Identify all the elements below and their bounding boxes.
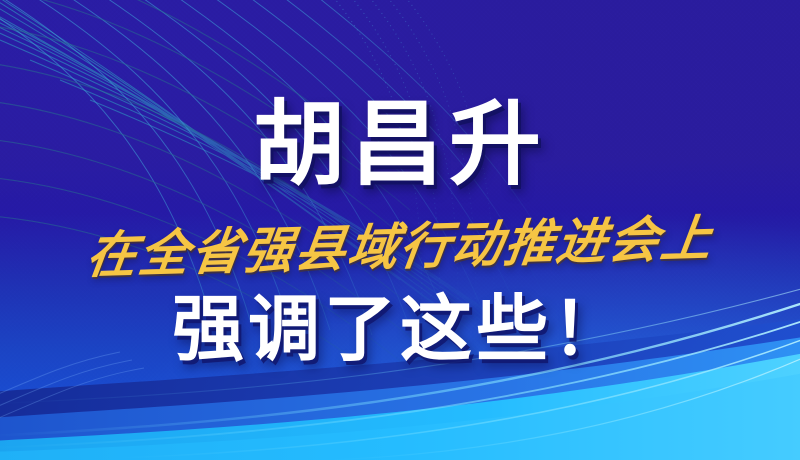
headline: 胡昌升 [0,99,800,191]
news-banner: 胡昌升 在全省强县域行动推进会上 强调了这些！ [0,0,800,460]
calligraphy-subtitle: 在全省强县域行动推进会上 [0,211,800,283]
banner-text-block: 胡昌升 在全省强县域行动推进会上 强调了这些！ [0,0,800,460]
subheadline: 强调了这些！ [0,294,800,366]
